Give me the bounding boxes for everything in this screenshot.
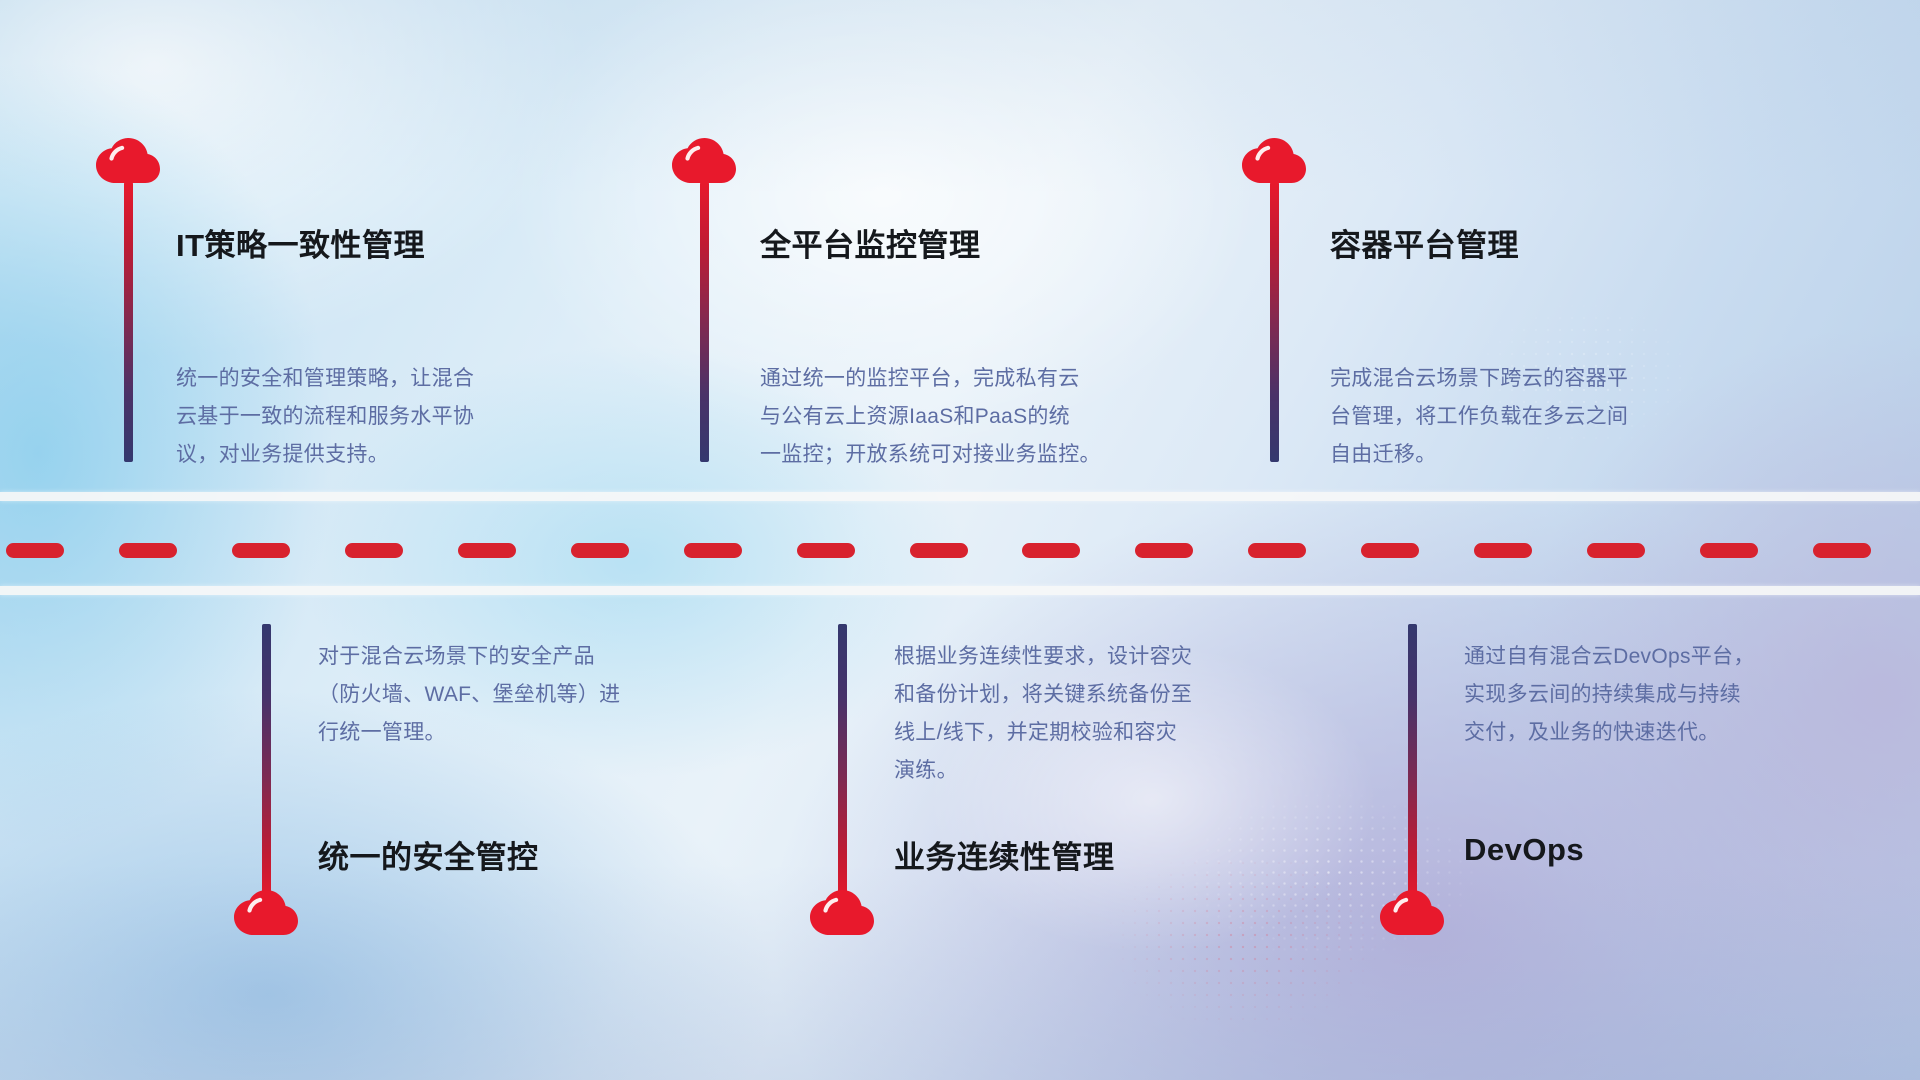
road-dash-segment [797,543,855,558]
marker-stem [838,624,847,904]
description-line: 统一的安全和管理策略，让混合 [176,360,474,398]
road-dash-segment [345,543,403,558]
road-dash-segment [684,543,742,558]
marker-title: DevOps [1464,832,1584,868]
cloud-icon [1241,138,1307,184]
dot-texture-red [1105,845,1385,1035]
description-line: 议，对业务提供支持。 [176,436,474,474]
road-lane-line-bottom [0,586,1920,595]
marker-stem [700,182,709,462]
road-dash-segment [1022,543,1080,558]
road-dash-segment [1248,543,1306,558]
description-line: 线上/线下，并定期校验和容灾 [894,714,1192,752]
description-line: 与公有云上资源IaaS和PaaS的统 [760,398,1101,436]
cloud-icon [1379,890,1445,936]
cloud-icon [809,890,875,936]
cloud-icon [233,890,299,936]
marker-stem [1270,182,1279,462]
marker-title: 全平台监控管理 [760,220,981,265]
road-lane-line-top [0,492,1920,501]
marker-title: 容器平台管理 [1330,220,1519,265]
marker-stem [1408,624,1417,904]
marker-title: 统一的安全管控 [318,832,539,877]
marker-stem [262,624,271,904]
description-line: 实现多云间的持续集成与持续 [1464,676,1755,714]
description-line: 交付，及业务的快速迭代。 [1464,714,1755,752]
road-dash-segment [6,543,64,558]
road-dash-segment [1587,543,1645,558]
road-center-dashes [0,543,1920,558]
road-dash-segment [1361,543,1419,558]
description-line: 行统一管理。 [318,714,620,752]
description-line: 一监控；开放系统可对接业务监控。 [760,436,1101,474]
description-line: 通过统一的监控平台，完成私有云 [760,360,1101,398]
cloud-icon [95,138,161,184]
marker-description: 对于混合云场景下的安全产品（防火墙、WAF、堡垒机等）进行统一管理。 [318,638,620,752]
marker-description: 通过统一的监控平台，完成私有云与公有云上资源IaaS和PaaS的统一监控；开放系… [760,360,1101,474]
description-line: 完成混合云场景下跨云的容器平 [1330,360,1628,398]
marker-title: 业务连续性管理 [894,832,1115,877]
description-line: 通过自有混合云DevOps平台， [1464,638,1755,676]
road-dash-segment [571,543,629,558]
cloud-icon [671,138,737,184]
marker-description: 统一的安全和管理策略，让混合云基于一致的流程和服务水平协议，对业务提供支持。 [176,360,474,474]
description-line: 台管理，将工作负载在多云之间 [1330,398,1628,436]
description-line: 云基于一致的流程和服务水平协 [176,398,474,436]
description-line: 自由迁移。 [1330,436,1628,474]
road-dash-segment [1700,543,1758,558]
road-dash-segment [232,543,290,558]
description-line: 和备份计划，将关键系统备份至 [894,676,1192,714]
road-dash-segment [1474,543,1532,558]
road-dash-segment [910,543,968,558]
road-dash-segment [1813,543,1871,558]
marker-description: 通过自有混合云DevOps平台，实现多云间的持续集成与持续交付，及业务的快速迭代… [1464,638,1755,752]
infographic-canvas: IT策略一致性管理统一的安全和管理策略，让混合云基于一致的流程和服务水平协议，对… [0,0,1920,1080]
road-dash-segment [119,543,177,558]
description-line: （防火墙、WAF、堡垒机等）进 [318,676,620,714]
road-dash-segment [1135,543,1193,558]
description-line: 演练。 [894,752,1192,790]
description-line: 根据业务连续性要求，设计容灾 [894,638,1192,676]
road-dash-segment [458,543,516,558]
marker-description: 根据业务连续性要求，设计容灾和备份计划，将关键系统备份至线上/线下，并定期校验和… [894,638,1192,790]
marker-stem [124,182,133,462]
marker-title: IT策略一致性管理 [176,220,425,265]
marker-description: 完成混合云场景下跨云的容器平台管理，将工作负载在多云之间自由迁移。 [1330,360,1628,474]
description-line: 对于混合云场景下的安全产品 [318,638,620,676]
